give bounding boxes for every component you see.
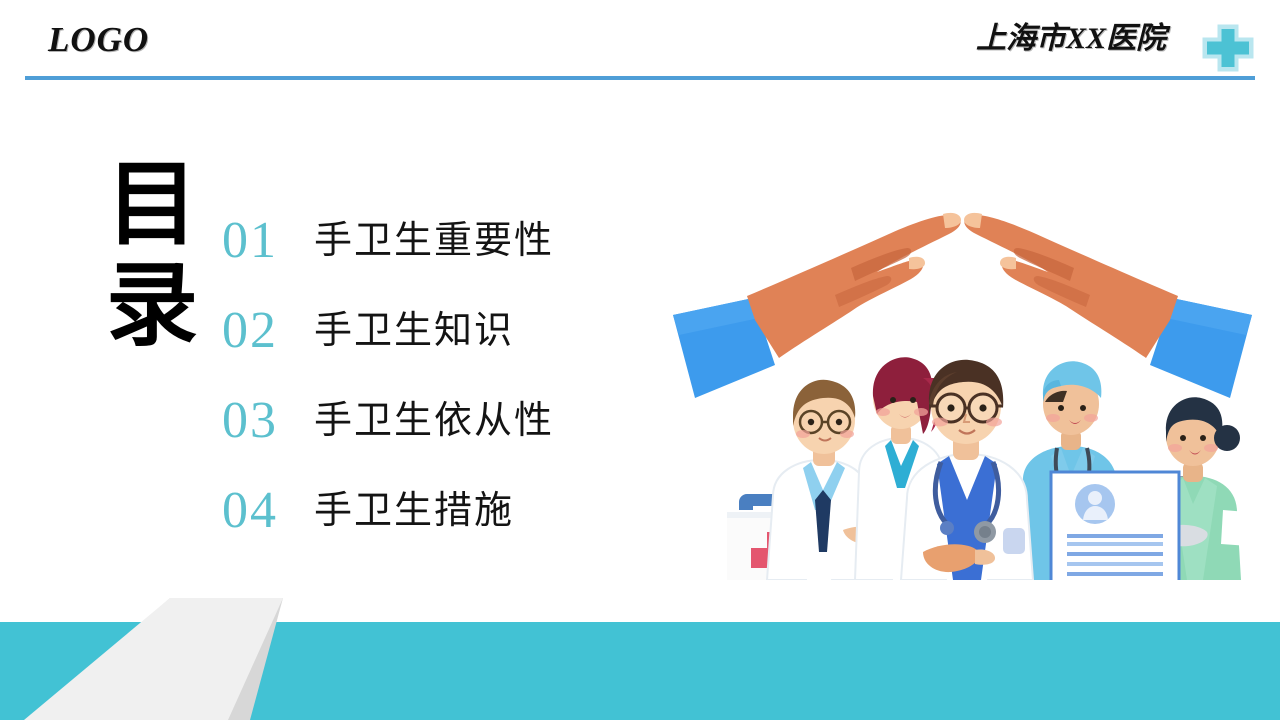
page-title-char-1: 目 xyxy=(92,155,212,256)
slide-header: LOGO 上海市XX医院 xyxy=(0,0,1280,90)
toc-number: 04 xyxy=(222,485,314,537)
page-title-char-2: 录 xyxy=(92,256,212,357)
toc-list: 01 手卫生重要性 02 手卫生知识 03 手卫生依从性 04 手卫生措施 xyxy=(222,196,622,556)
toc-item-03[interactable]: 03 手卫生依从性 xyxy=(222,376,622,466)
slide-canvas: LOGO 上海市XX医院 目 录 01 手卫生重要性 02 手卫生知识 03 手… xyxy=(0,0,1280,720)
hospital-name: 上海市XX医院 xyxy=(976,24,1166,54)
header-divider-line xyxy=(25,76,1255,80)
toc-item-01[interactable]: 01 手卫生重要性 xyxy=(222,196,622,286)
toc-number: 03 xyxy=(222,395,314,447)
logo-text: LOGO xyxy=(48,22,149,57)
bottom-decoration xyxy=(0,560,1280,720)
right-protective-hand xyxy=(964,213,1252,398)
page-title: 目 录 xyxy=(92,155,212,357)
medical-cross-icon xyxy=(1198,24,1258,74)
toc-item-02[interactable]: 02 手卫生知识 xyxy=(222,286,622,376)
toc-label: 手卫生知识 xyxy=(314,312,514,350)
toc-number: 01 xyxy=(222,215,314,267)
toc-item-04[interactable]: 04 手卫生措施 xyxy=(222,466,622,556)
toc-label: 手卫生重要性 xyxy=(314,222,554,260)
toc-label: 手卫生依从性 xyxy=(314,402,554,440)
protective-hands-medical-team-illustration xyxy=(655,180,1270,580)
toc-label: 手卫生措施 xyxy=(314,492,514,530)
toc-number: 02 xyxy=(222,305,314,357)
